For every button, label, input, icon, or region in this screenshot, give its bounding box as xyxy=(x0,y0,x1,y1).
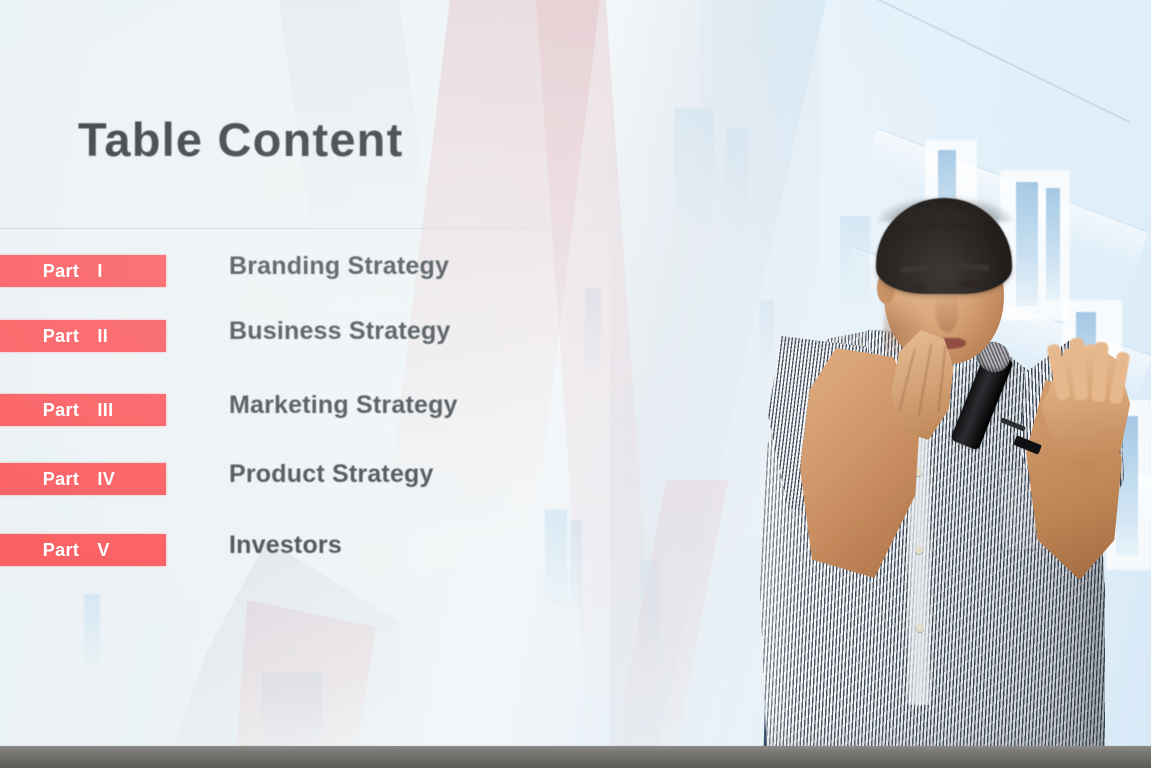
hair-texture xyxy=(876,196,1014,222)
shirt-button xyxy=(915,546,923,554)
shirt-button xyxy=(916,624,924,632)
nose xyxy=(936,292,958,332)
eye xyxy=(903,282,927,290)
stage-floor xyxy=(0,746,1151,768)
screenshot-root: Table Content Part I Branding Strategy P… xyxy=(0,0,1151,768)
eye xyxy=(960,280,986,288)
speaker-figure xyxy=(0,0,1151,768)
